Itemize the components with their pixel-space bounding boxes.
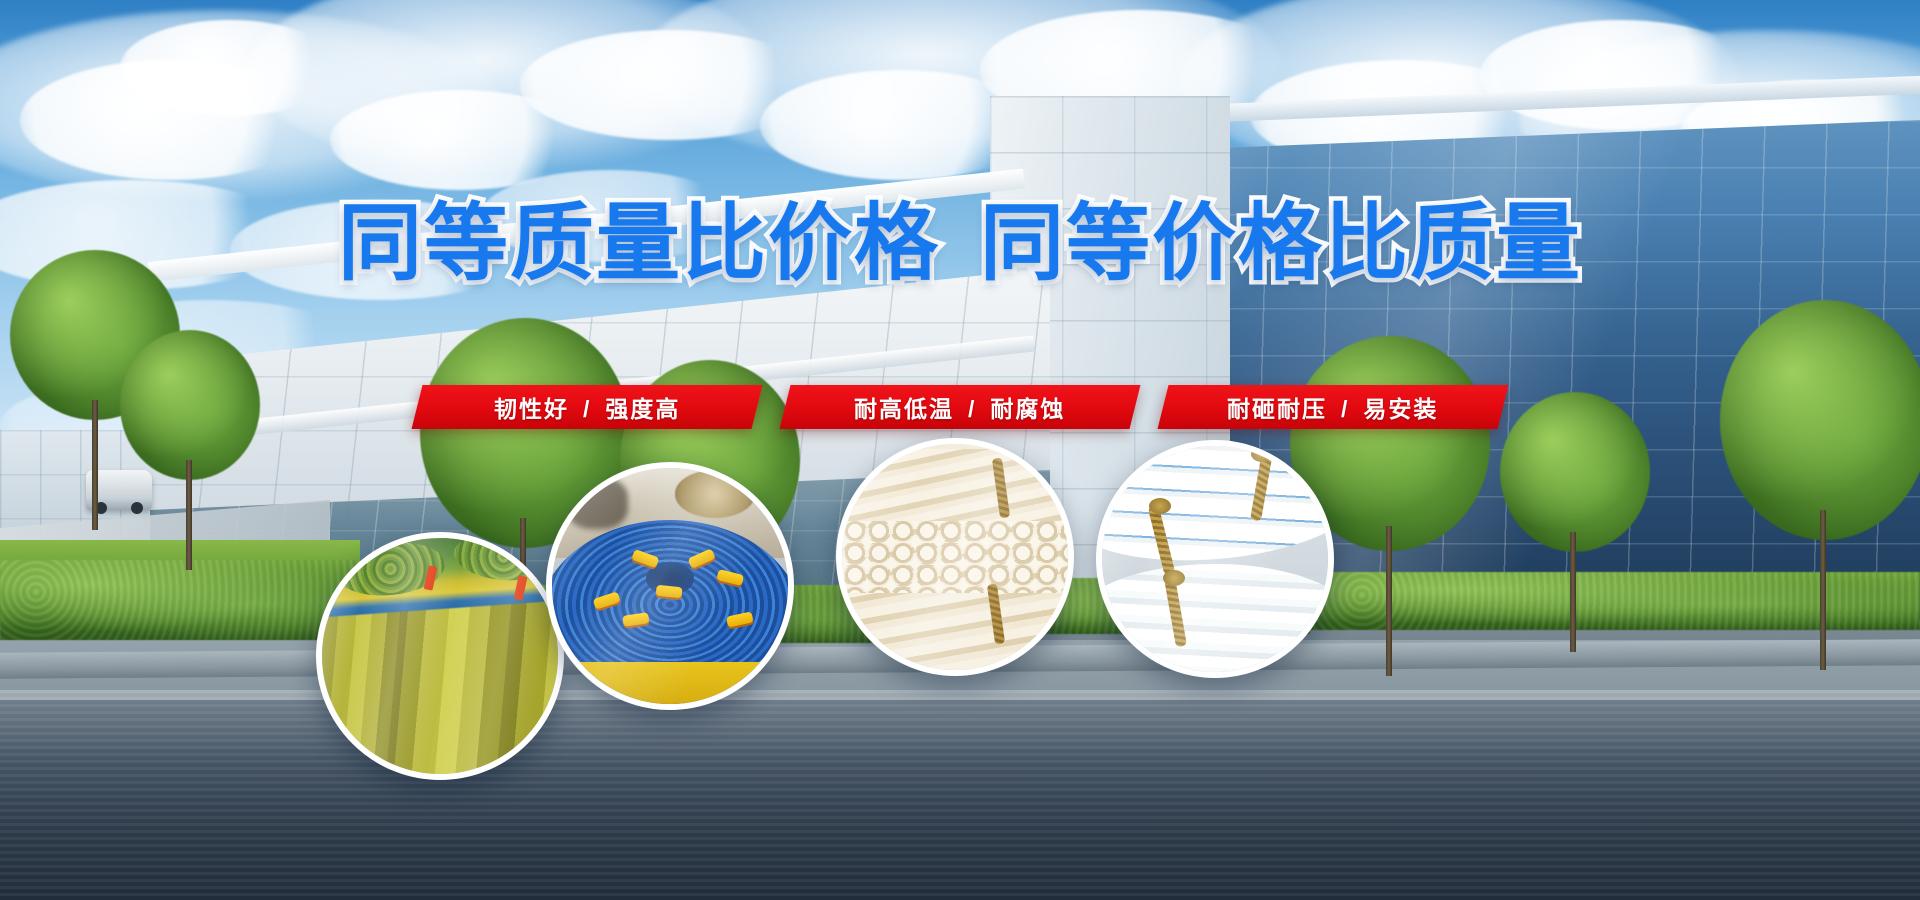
ribbon-left-label: 耐砸耐压	[1227, 396, 1327, 422]
reflection-gloss	[0, 690, 1920, 900]
feature-ribbon-row: 韧性好/强度高 耐高低温/耐腐蚀 耐砸耐压/易安装	[0, 385, 1920, 429]
headline-left: 同等质量比价格	[338, 196, 940, 290]
product-circle-white-pe-coil[interactable]	[1096, 440, 1334, 678]
hedge-far-right	[1300, 572, 1920, 630]
ribbon-separator: /	[954, 396, 990, 423]
ribbon-right-label: 耐腐蚀	[991, 396, 1066, 422]
feature-ribbon-pressure[interactable]: 耐砸耐压/易安装	[1158, 385, 1509, 429]
product-circle-pvc-pipe-bundle[interactable]	[836, 438, 1074, 676]
hedge-left	[0, 560, 360, 640]
hero-banner: 同等质量比价格同等价格比质量 韧性好/强度高 耐高低温/耐腐蚀 耐砸耐压/易安装	[0, 0, 1920, 900]
ribbon-separator: /	[1327, 396, 1363, 423]
ribbon-left-label: 耐高低温	[854, 396, 954, 422]
product-circle-blue-yellow-hose-coil[interactable]	[546, 462, 794, 710]
product-circle-olive-hose-rolls[interactable]	[316, 532, 564, 780]
ribbon-text-pressure: 耐砸耐压/易安装	[1227, 390, 1438, 424]
headline-right: 同等价格比质量	[980, 196, 1582, 290]
banner-headline: 同等质量比价格同等价格比质量	[0, 196, 1920, 290]
ribbon-text-toughness: 韧性好/强度高	[494, 390, 680, 424]
ribbon-left-label: 韧性好	[494, 396, 569, 422]
ribbon-right-label: 易安装	[1364, 396, 1439, 422]
feature-ribbon-toughness[interactable]: 韧性好/强度高	[412, 385, 763, 429]
ribbon-text-temperature: 耐高低温/耐腐蚀	[854, 390, 1065, 424]
ribbon-separator: /	[569, 396, 605, 423]
feature-ribbon-temperature[interactable]: 耐高低温/耐腐蚀	[780, 385, 1141, 429]
ribbon-right-label: 强度高	[605, 396, 680, 422]
